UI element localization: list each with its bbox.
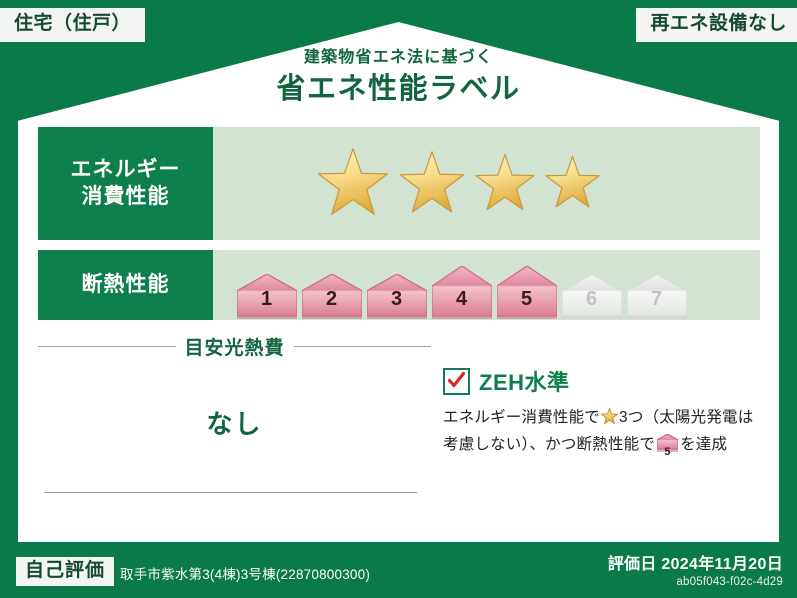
energy-performance-label: 住宅（住戸） 再エネ設備なし 建築物省エネ法に基づく 省エネ性能ラベル エネルギ…: [0, 0, 797, 598]
building-name-text: 取手市紫水第3(4棟)3号棟(22870800300): [120, 563, 370, 586]
badge-renewable-energy: 再エネ設備なし: [636, 8, 797, 42]
energy-performance-value-cell: [213, 127, 760, 240]
energy-label-line2: 消費性能: [82, 184, 170, 211]
label-footer: 自己評価 取手市紫水第3(4棟)3号棟(22870800300) 評価日 202…: [0, 546, 797, 598]
zeh-heading: ZEH水準: [443, 365, 760, 397]
self-evaluation-badge: 自己評価: [16, 557, 114, 586]
energy-label-line1: エネルギー: [71, 157, 181, 184]
insulation-performance-value-cell: 1234567: [213, 250, 760, 320]
zeh-panel: ZEH水準 エネルギー消費性能で3つ（太陽光発電は考慮しない）、かつ断熱性能で5…: [431, 330, 760, 520]
insulation-level-3: 3: [365, 274, 428, 320]
energy-performance-label-cell: エネルギー 消費性能: [38, 127, 213, 240]
insulation-level-6: 6: [560, 274, 623, 320]
badge-renewable-energy-text: 再エネ設備なし: [650, 13, 787, 34]
badge-building-type: 住宅（住戸）: [0, 8, 145, 42]
zeh-desc-part3: を達成: [680, 436, 727, 453]
zeh-desc-house-number: 5: [657, 444, 678, 461]
badge-building-type-text: 住宅（住戸）: [14, 13, 131, 34]
house-icon: 5: [657, 434, 678, 461]
check-icon: [443, 368, 470, 395]
star-icon: [316, 147, 390, 221]
insulation-level-4: 4: [430, 266, 493, 320]
document-id: ab05f043-f02c-4d29: [608, 576, 783, 588]
label-title-block: 建築物省エネ法に基づく 省エネ性能ラベル: [0, 48, 797, 107]
energy-cost-heading-text: 目安光熱費: [185, 333, 285, 360]
footer-right-group: 評価日 2024年11月20日 ab05f043-f02c-4d29: [608, 550, 783, 588]
energy-cost-panel: 目安光熱費 なし: [38, 330, 431, 520]
star-rating: [231, 147, 601, 221]
insulation-level-5: 5: [495, 266, 558, 320]
energy-cost-heading: 目安光熱費: [38, 333, 431, 360]
insulation-level-7: 7: [625, 274, 688, 320]
insulation-performance-label-cell: 断熱性能: [38, 250, 213, 320]
star-icon: [398, 150, 466, 218]
energy-cost-underline: [44, 492, 417, 493]
heading-rule-right: [294, 346, 432, 347]
zeh-desc-star-count: 3つ（太陽光発電: [619, 409, 738, 426]
star-icon: [601, 408, 618, 433]
evaluation-date: 評価日 2024年11月20日: [608, 550, 783, 574]
heading-rule-left: [38, 346, 176, 347]
star-icon: [544, 155, 601, 212]
star-icon: [474, 153, 536, 215]
insulation-performance-row: 断熱性能 1234567: [38, 250, 760, 320]
insulation-label: 断熱性能: [82, 272, 170, 299]
insulation-level-2: 2: [300, 274, 363, 320]
footer-left-group: 自己評価 取手市紫水第3(4棟)3号棟(22870800300): [16, 557, 370, 586]
zeh-title: ZEH水準: [479, 365, 570, 397]
label-title: 省エネ性能ラベル: [0, 71, 797, 107]
energy-cost-value: なし: [38, 404, 431, 441]
energy-performance-row: エネルギー 消費性能: [38, 127, 760, 240]
lower-section: 目安光熱費 なし ZEH水準 エネルギー消費性能で3つ（太陽光発電は考慮しない）…: [38, 330, 760, 520]
zeh-desc-part1: エネルギー消費性能で: [443, 409, 600, 426]
zeh-description: エネルギー消費性能で3つ（太陽光発電は考慮しない）、かつ断熱性能で5を達成: [443, 406, 760, 462]
label-subtitle: 建築物省エネ法に基づく: [0, 48, 797, 67]
insulation-level-1: 1: [235, 274, 298, 320]
insulation-level-scale: 1234567: [231, 250, 688, 320]
